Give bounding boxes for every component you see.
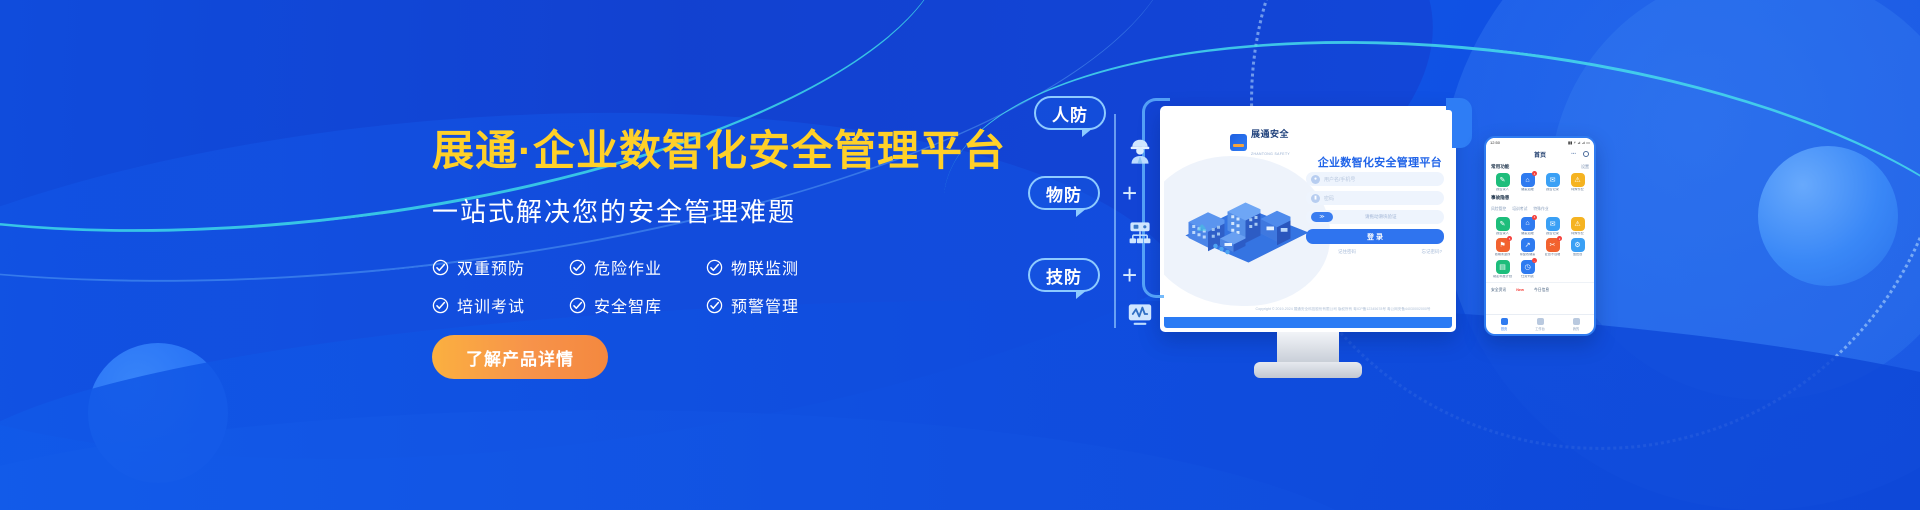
status-time: 12:50 [1490,140,1500,145]
app-icon: ✎ [1496,173,1510,187]
app-label: 待整改隐患 [1520,253,1536,257]
feature-item: 预警管理 [706,293,843,317]
feature-row-2: 培训考试 安全智库 预警管理 [432,293,992,317]
learn-more-button[interactable]: 了解产品详情 [432,335,608,379]
hero-copy: 展通·企业数智化安全管理平台 一站式解决您的安全管理难题 双重预防 危险作业 [432,128,992,379]
worker-helmet-icon [1120,130,1160,170]
app-label: 制定年度计划 [1493,275,1512,279]
remember-password-checkbox[interactable]: 记住密码 [1338,249,1356,255]
feature-label: 培训考试 [457,293,525,317]
phone-nav-bar: 首页 ⋯ [1486,147,1594,161]
news-tab-row: 安全资讯 New 今日信息 [1491,288,1589,293]
feature-list: 双重预防 危险作业 物联监测 [432,255,992,317]
apps-grid: ✎ 报告录入 ⌂ 4 隐患治理 ✉ 报告记录 ⚠ 特殊作业 ⚑ [1491,217,1589,279]
app-tile[interactable]: ⚠ 特殊作业 [1566,173,1589,192]
feature-item: 安全智库 [569,293,706,317]
feature-row-1: 双重预防 危险作业 物联监测 [432,255,992,279]
notification-badge: − [1532,258,1537,263]
hero-subheadline: 一站式解决您的安全管理难题 [432,192,992,229]
news-section: 安全资讯 New 今日信息 [1486,286,1594,295]
app-icon: ✉ [1546,173,1560,187]
feature-item: 物联监测 [706,255,843,279]
status-indicators-icon: ▮▮ ⚡ ⊿ ⊿ ▭ [1568,140,1590,145]
captcha-placeholder: 请拖动滑块验证 [1365,214,1397,220]
monitor-stand-base [1254,362,1362,378]
copyright-text: Copyright © 2019-2024 展通安全科技股份有限公司 版权所有 … [1242,307,1444,312]
check-circle-icon [706,259,723,276]
screen-logo: 展通安全 ZHANTONG SAFETY [1230,124,1290,160]
app-tile[interactable]: ⚑ 5 超期未整改 [1491,238,1514,257]
tab-peixunkaoshi[interactable]: 培训考试 [1512,207,1527,212]
user-icon: ● [1311,175,1320,184]
more-dots-icon[interactable]: ⋯ [1571,151,1576,157]
app-label: 超期未整改 [1495,253,1511,257]
notification-badge: 4 [1532,215,1537,220]
feature-item: 培训考试 [432,293,569,317]
bottom-tab-label: 我的 [1573,326,1579,331]
notification-badge: 5 [1507,236,1512,241]
app-label: 值班台 [1573,253,1583,257]
favorites-grid: ✎ 报告录入 ⌂ 4 隐患治理 ✉ 报告记录 ⚠ 特殊作业 [1491,173,1589,192]
tag-plus-icon-1: + [1122,180,1137,206]
favorites-section: 常用功能 设置 ✎ 报告录入 ⌂ 4 隐患治理 ✉ 报告记录 ⚠ [1486,161,1594,192]
tag-connector-line [1114,114,1116,328]
app-tile[interactable]: ✎ 报告录入 [1491,217,1514,236]
captcha-slider[interactable]: ≫ 请拖动滑块验证 [1306,210,1444,224]
tab-teshuzuoye[interactable]: 特殊作业 [1533,207,1548,212]
app-label: 报告记录 [1546,232,1559,236]
login-button[interactable]: 登 录 [1306,229,1444,244]
app-tile[interactable]: ⚠ 特殊作业 [1566,217,1589,236]
defense-tags: 人防 物防 + 技防 + [1028,96,1188,356]
tab-fengxianguankong[interactable]: 风险管控 [1491,207,1506,212]
isometric-city-illustration [1172,176,1322,273]
forgot-password-link[interactable]: 忘记密码? [1421,249,1442,255]
login-panel-title: 企业数智化安全管理平台 [1318,154,1442,170]
apps-section: 事故隐患 [1486,192,1594,201]
notification-badge: 4 [1532,171,1537,176]
settings-icon[interactable] [1583,151,1589,157]
monitor-stand-neck [1277,332,1339,362]
apps-title: 事故隐患 [1491,195,1509,201]
app-icon: ⚠ [1571,217,1585,231]
password-placeholder: 密码 [1324,195,1334,202]
notification-badge: 2 [1557,236,1562,241]
password-field[interactable]: ▮ 密码 [1306,191,1444,205]
tag-pill-wufang[interactable]: 物防 [1028,176,1100,210]
screen-bottom-bar [1164,317,1452,328]
feature-item: 双重预防 [432,255,569,279]
app-label: 报告记录 [1546,188,1559,192]
app-icon: ↗ [1521,238,1535,252]
favorites-title: 常用功能 [1491,164,1509,170]
bottom-tab-label: 工作台 [1535,326,1545,331]
slider-handle-icon[interactable]: ≫ [1311,212,1333,222]
app-tile[interactable]: ⌂ 4 隐患治理 [1516,173,1539,192]
brand-mark-icon [1230,134,1247,151]
feature-label: 预警管理 [731,293,799,317]
bottom-tab-workbench[interactable]: 工作台 [1522,315,1558,334]
check-circle-icon [569,297,586,314]
app-tile[interactable]: ▤ 制定年度计划 [1491,260,1514,279]
app-label: 特殊作业 [1571,188,1584,192]
monitoring-wave-icon [1120,294,1160,334]
app-label: 复查不合格 [1545,253,1561,257]
tag-plus-icon-2: + [1122,262,1137,288]
apps-tab-row: 风险管控 培训考试 特殊作业 [1486,204,1594,214]
apps-grid-section: ✎ 报告录入 ⌂ 4 隐患治理 ✉ 报告记录 ⚠ 特殊作业 ⚑ [1486,214,1594,279]
favorites-settings-link[interactable]: 设置 [1581,164,1589,170]
app-label: 特殊作业 [1571,232,1584,236]
feature-label: 物联监测 [731,255,799,279]
news-tab-anquanzixun[interactable]: 安全资讯 [1491,288,1506,293]
check-circle-icon [432,259,449,276]
desktop-monitor-mockup: 展通安全 ZHANTONG SAFETY 企业数智化安全管理平台 ● 用户名/手… [1160,106,1456,378]
app-tile[interactable]: ⌂ 4 隐患治理 [1516,217,1539,236]
monitor-screen: 展通安全 ZHANTONG SAFETY 企业数智化安全管理平台 ● 用户名/手… [1164,110,1452,328]
user-icon [1573,318,1580,325]
monitor-bezel: 展通安全 ZHANTONG SAFETY 企业数智化安全管理平台 ● 用户名/手… [1160,106,1456,332]
lock-icon: ▮ [1311,194,1320,203]
app-tile[interactable]: ✉ 报告记录 [1541,217,1564,236]
home-icon [1501,318,1508,325]
feature-label: 双重预防 [457,255,525,279]
phone-bottom-nav: 首页 工作台 我的 [1486,314,1594,334]
hero-headline: 展通·企业数智化安全管理平台 [432,128,992,174]
news-tab-jinriinfo[interactable]: 今日信息 [1534,288,1549,293]
feature-label: 危险作业 [594,255,662,279]
app-tile[interactable]: ✉ 报告记录 [1541,173,1564,192]
app-icon: ⚙ [1571,238,1585,252]
divider [1486,282,1594,283]
brand-name: 展通安全 [1251,129,1289,139]
app-label: 隐患治理 [1521,232,1534,236]
check-circle-icon [706,297,723,314]
check-circle-icon [569,259,586,276]
app-icon: ✉ [1546,217,1560,231]
app-icon: ✎ [1496,217,1510,231]
phone-nav-title: 首页 [1534,150,1546,159]
tag-pill-jifang[interactable]: 技防 [1028,258,1100,292]
device-network-icon [1120,212,1160,252]
app-tile[interactable]: ✂ 2 复查不合格 [1541,238,1564,257]
bottom-tab-label: 首页 [1501,326,1507,331]
username-field[interactable]: ● 用户名/手机号 [1306,172,1444,186]
app-tile[interactable]: ⚙ 值班台 [1566,238,1589,257]
app-tile[interactable]: ✎ 报告录入 [1491,173,1514,192]
favorites-title-row: 常用功能 设置 [1491,164,1589,170]
app-tile[interactable]: ↗ 待整改隐患 [1516,238,1539,257]
app-label: 任务列表 [1521,275,1534,279]
mobile-phone-mockup: 12:50 ▮▮ ⚡ ⊿ ⊿ ▭ 首页 ⋯ 常用功能 设置 ✎ 报告录入 ⌂ 4 [1484,136,1596,336]
feature-label: 安全智库 [594,293,662,317]
app-label: 隐患治理 [1521,188,1534,192]
bottom-tab-home[interactable]: 首页 [1486,315,1522,334]
app-icon: ⚠ [1571,173,1585,187]
bottom-tab-mine[interactable]: 我的 [1558,315,1594,334]
feature-item: 危险作业 [569,255,706,279]
phone-status-bar: 12:50 ▮▮ ⚡ ⊿ ⊿ ▭ [1486,138,1594,147]
check-circle-icon [432,297,449,314]
app-tile[interactable]: ◷ − 任务列表 [1516,260,1539,279]
news-new-badge: New [1516,288,1524,293]
brand-tagline: ZHANTONG SAFETY [1251,152,1290,156]
apps-title-row: 事故隐患 [1491,195,1589,201]
app-icon: ▤ [1496,260,1510,274]
grid-icon [1537,318,1544,325]
hero-banner: 展通·企业数智化安全管理平台 一站式解决您的安全管理难题 双重预防 危险作业 [0,0,1920,510]
app-label: 报告录入 [1496,188,1509,192]
app-label: 报告录入 [1496,232,1509,236]
username-placeholder: 用户名/手机号 [1324,176,1355,183]
tag-pill-renfang[interactable]: 人防 [1034,96,1106,130]
